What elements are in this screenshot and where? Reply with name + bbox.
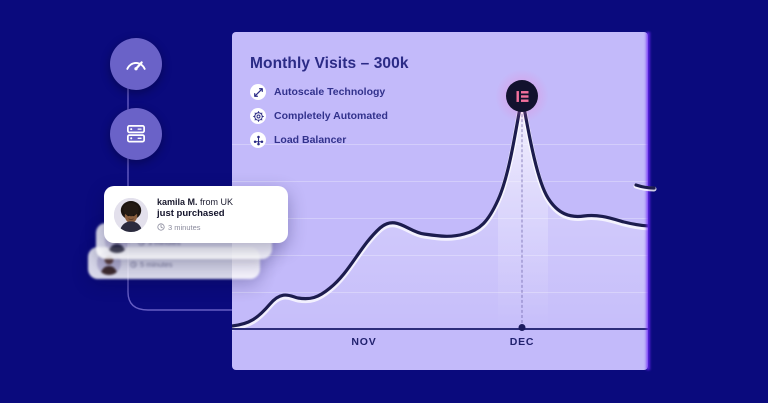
notification-user-location: from UK bbox=[200, 197, 233, 207]
server-icon bbox=[123, 121, 149, 147]
notification-time-third: 5 minutes bbox=[130, 260, 173, 269]
notification-action: just purchased bbox=[157, 208, 233, 220]
feature-label-automated: Completely Automated bbox=[274, 110, 388, 122]
chart-axis-marker-dot bbox=[519, 324, 526, 331]
notification-user-name: kamila M. bbox=[157, 197, 198, 207]
feature-item-automated: Completely Automated bbox=[250, 108, 409, 124]
gauge-icon bbox=[123, 51, 149, 77]
load-balancer-icon bbox=[250, 132, 266, 148]
feature-item-load-balancer: Load Balancer bbox=[250, 132, 409, 148]
gear-icon bbox=[250, 108, 266, 124]
clock-icon bbox=[157, 223, 165, 231]
chart-peak-marker[interactable] bbox=[506, 80, 538, 112]
avatar bbox=[114, 198, 148, 232]
feature-label-autoscale: Autoscale Technology bbox=[274, 86, 385, 98]
chart-panel: NOV DEC Monthly Visits – 300k Autoscale … bbox=[232, 32, 648, 370]
chart-peak-glow bbox=[498, 96, 548, 328]
screenshot-stage: NOV DEC Monthly Visits – 300k Autoscale … bbox=[0, 0, 768, 403]
badge-server-hosting[interactable] bbox=[110, 108, 162, 160]
feature-item-autoscale: Autoscale Technology bbox=[250, 84, 409, 100]
axis-tick-dec: DEC bbox=[510, 336, 535, 348]
notification-time-text-third: 5 minutes bbox=[140, 260, 173, 269]
notification-time-primary: 3 minutes bbox=[157, 223, 233, 232]
panel-edge-glow bbox=[645, 32, 651, 370]
chart-line-overflow-tail bbox=[636, 177, 666, 201]
notification-card-primary[interactable]: kamila M. from UK just purchased 3 minut… bbox=[104, 186, 288, 243]
chart-x-axis bbox=[232, 328, 648, 330]
badge-performance-gauge[interactable] bbox=[110, 38, 162, 90]
page-title: Monthly Visits – 300k bbox=[250, 55, 409, 73]
clock-icon bbox=[130, 261, 137, 268]
panel-header: Monthly Visits – 300k Autoscale Technolo… bbox=[250, 55, 409, 156]
chart-peak-dashed-line bbox=[522, 94, 523, 328]
axis-tick-nov: NOV bbox=[351, 336, 376, 348]
notification-time-text-primary: 3 minutes bbox=[168, 223, 201, 232]
notification-user-line: kamila M. from UK bbox=[157, 197, 233, 208]
elementor-logo-icon bbox=[515, 89, 530, 104]
feature-label-load-balancer: Load Balancer bbox=[274, 134, 346, 146]
autoscale-arrows-icon bbox=[250, 84, 266, 100]
elementor-logo-badge bbox=[506, 80, 538, 112]
